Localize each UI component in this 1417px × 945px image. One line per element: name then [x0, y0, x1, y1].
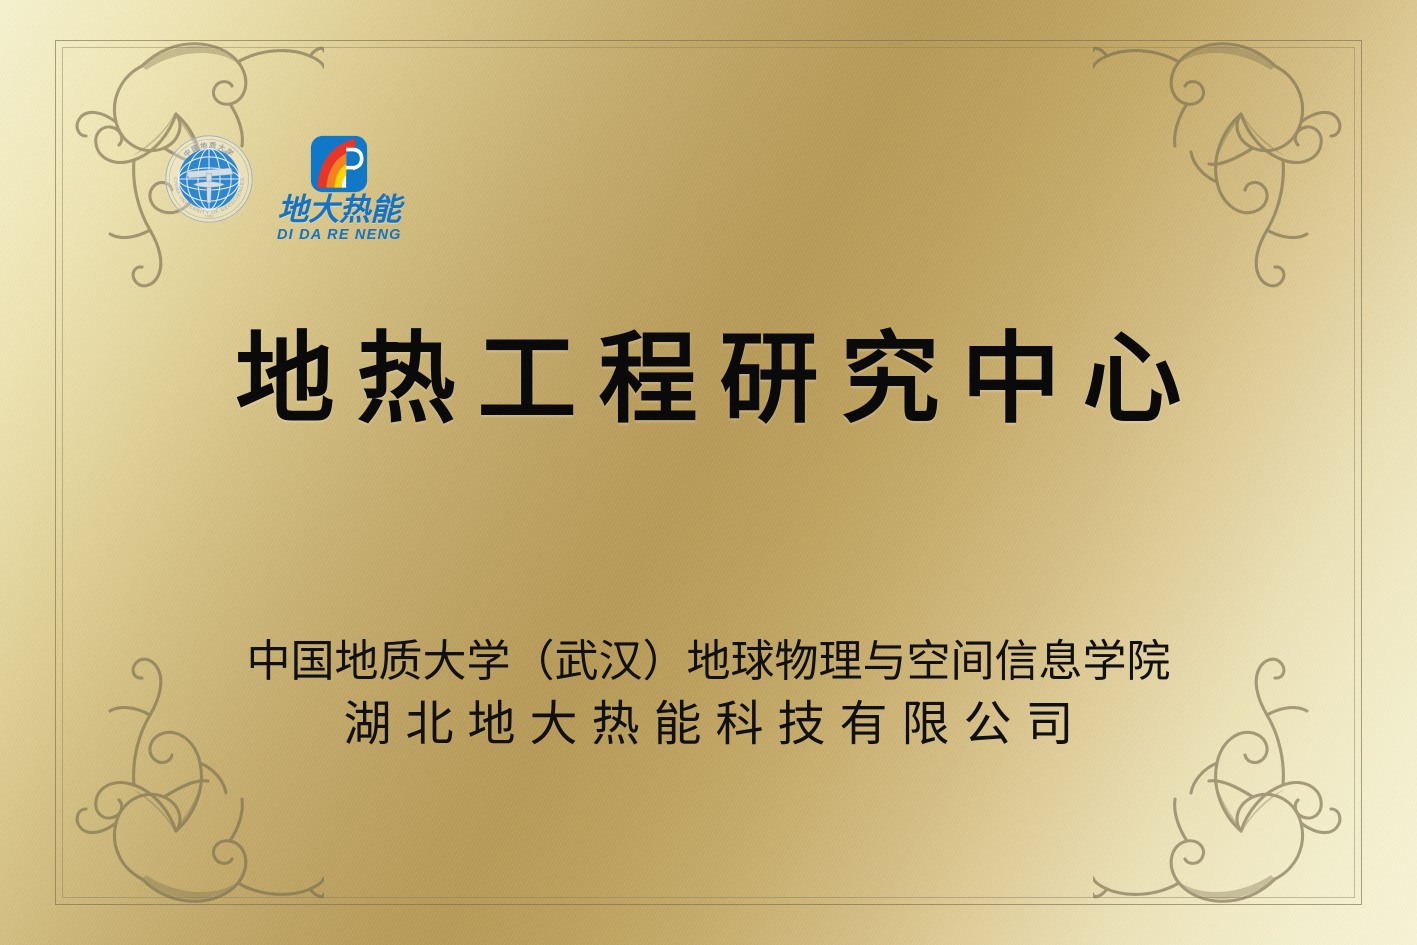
university-emblem-icon: 中国地质大学 CHINA UNIVERSITY OF GEOSCIENCES 1… [163, 133, 255, 225]
subtitle-block: 中国地质大学（武汉）地球物理与空间信息学院 湖北地大热能科技有限公司 [0, 636, 1417, 754]
ornament-corner-top-right [1093, 6, 1393, 296]
plaque-board: 中国地质大学 CHINA UNIVERSITY OF GEOSCIENCES 1… [0, 0, 1417, 945]
brand-name-en: DI DA RE NENG [277, 228, 402, 243]
didareneng-mark-icon [310, 135, 368, 193]
emblem-year: 1952 [205, 214, 215, 219]
brand-name-cn: 地大热能 [277, 194, 401, 225]
company-brand-block: 地大热能 DI DA RE NENG [277, 135, 402, 243]
page-title: 地热工程研究中心 [0, 328, 1417, 433]
logo-row: 中国地质大学 CHINA UNIVERSITY OF GEOSCIENCES 1… [163, 133, 402, 243]
subtitle-line-institute: 中国地质大学（武汉）地球物理与空间信息学院 [0, 636, 1417, 688]
subtitle-line-company: 湖北地大热能科技有限公司 [0, 696, 1417, 754]
